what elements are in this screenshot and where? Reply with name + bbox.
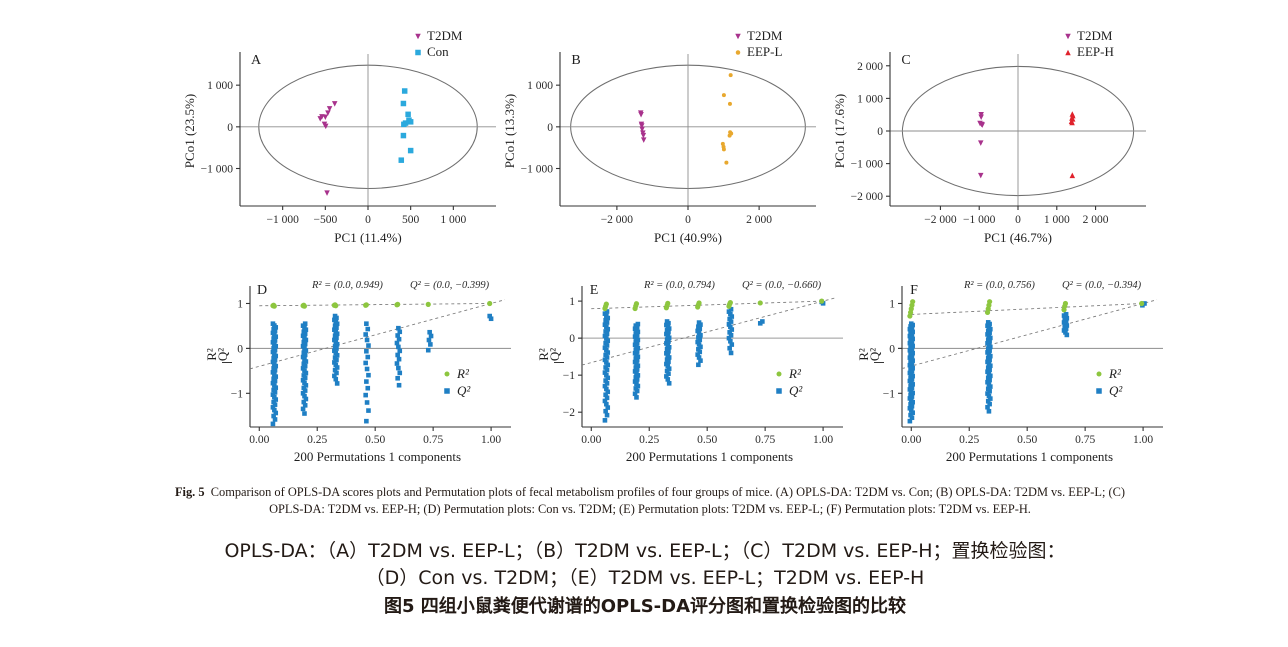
q2-point [986, 320, 991, 325]
x-tick-label: 1.00 [481, 434, 501, 446]
panel-c-opls-da-t2dm-vs-eeph: −2 000−1 00001 0002 000−2 000−1 00001 00… [828, 18, 1158, 258]
data-point [978, 140, 984, 146]
r2-point [1139, 301, 1144, 306]
panel-e-plot: 0.000.250.500.751.00−2−101200 Permutatio… [532, 262, 872, 477]
x-axis-label: 200 Permutations 1 components [946, 449, 1113, 464]
x-tick-label: 1 000 [1044, 214, 1070, 226]
r2-point [910, 299, 915, 304]
data-point [724, 161, 728, 165]
q2-point [363, 361, 368, 366]
x-tick-label: −2 000 [924, 214, 957, 226]
panel-letter: B [571, 53, 580, 68]
q2-statistic-label: Q² = (0.0, −0.394) [1062, 280, 1142, 291]
svg-B-root: −2 00002 000−1 00001 000PC1 (40.9%)PCo1 … [502, 28, 816, 245]
q2-point [395, 376, 400, 381]
figure-title-chinese: 图5 四组小鼠粪便代谢谱的OPLS-DA评分图和置换检验图的比较 [60, 592, 1230, 618]
data-point [978, 115, 984, 121]
legend-marker [1065, 50, 1071, 56]
x-tick-label: 1.00 [813, 434, 833, 446]
x-axis-label: 200 Permutations 1 components [294, 449, 461, 464]
svg-F-root: 0.000.250.500.751.00−101200 Permutations… [856, 280, 1163, 464]
x-tick-label: 1 000 [440, 214, 466, 226]
x-tick-label: 0.75 [423, 434, 443, 446]
q2-point [364, 321, 369, 326]
legend-label: Con [427, 44, 449, 59]
r2-point [665, 301, 670, 306]
x-tick-label: 2 000 [746, 214, 772, 226]
figure-caption-english: Fig. 5 Comparison of OPLS-DA scores plot… [170, 484, 1130, 518]
y-tick-label: 0 [547, 122, 553, 134]
panel-f-permutation-t2dm-vs-eeph: 0.000.250.500.751.00−101200 Permutations… [852, 262, 1192, 477]
q2-point [729, 351, 734, 356]
x-tick-label: 0.50 [697, 434, 717, 446]
svg-D-root: 0.000.250.500.751.00−101200 Permutations… [204, 280, 511, 464]
data-point [402, 88, 408, 94]
y-axis-label: PCo1 (17.6%) [832, 94, 847, 168]
q2-point [271, 321, 276, 326]
legend-label: EEP-L [747, 44, 782, 59]
q2-point [427, 330, 432, 335]
figure-caption-text: Comparison of OPLS-DA scores plots and P… [211, 485, 1125, 516]
x-axis-label: PC1 (11.4%) [334, 230, 401, 245]
y-tick-label: 0 [889, 343, 895, 355]
data-point [323, 115, 329, 121]
y-axis-label-q2: Q² [215, 348, 230, 361]
y-tick-label: 1 000 [527, 80, 553, 92]
q2-point [333, 314, 338, 319]
q2-point [365, 386, 370, 391]
r2-point [604, 301, 609, 306]
figure-caption-chinese: OPLS-DA：（A）T2DM vs. EEP-L；（B）T2DM vs. EE… [60, 538, 1230, 592]
y-tick-label: 0 [237, 343, 243, 355]
legend-label: T2DM [427, 28, 463, 43]
q2-point [603, 418, 608, 423]
q2-point [364, 419, 369, 424]
q2-point [365, 338, 370, 343]
series-t2dm [317, 101, 337, 196]
legend-marker [444, 388, 450, 394]
y-axis-label: PCo1 (13.3%) [502, 94, 517, 168]
q2-point [487, 314, 492, 319]
panel-b-plot: −2 00002 000−1 00001 000PC1 (40.9%)PCo1 … [498, 18, 828, 258]
series-t2dm [977, 112, 985, 178]
panel-letter: F [910, 283, 918, 298]
legend-label: Q² [1109, 383, 1123, 398]
y-tick-label: 0 [877, 126, 883, 138]
r2-trend-line [259, 303, 491, 305]
panel-d-permutation-con-vs-t2dm: 0.000.250.500.751.00−101200 Permutations… [200, 262, 540, 477]
data-point [729, 73, 733, 77]
panel-letter: A [251, 53, 262, 68]
q2-point [1064, 312, 1069, 317]
r2-point [987, 299, 992, 304]
r2-point [634, 301, 639, 306]
q2-point [395, 353, 400, 358]
q2-point [397, 383, 402, 388]
q2-point [987, 409, 992, 414]
r2-statistic-label: R² = (0.0, 0.794) [643, 280, 715, 291]
y-axis-label: PCo1 (23.5%) [182, 94, 197, 168]
r2-point [819, 299, 824, 304]
legend-marker [777, 372, 782, 377]
r2-statistic-label: R² = (0.0, 0.949) [311, 280, 383, 291]
legend-label: T2DM [1077, 28, 1113, 43]
data-point [405, 112, 411, 118]
r2-trend-line [911, 303, 1143, 314]
q2-point [395, 361, 400, 366]
y-tick-label: −2 [563, 407, 575, 419]
r2-point [426, 302, 431, 307]
data-point [401, 101, 407, 107]
q2-point [365, 400, 370, 405]
data-point [401, 122, 407, 128]
q2-point [271, 422, 276, 427]
x-tick-label: −1 000 [266, 214, 299, 226]
y-tick-label: 1 000 [857, 93, 883, 105]
y-axis-label-q2: Q² [547, 348, 562, 361]
q2-point [365, 367, 370, 372]
series-q2 [603, 300, 826, 423]
y-tick-label: −1 [883, 388, 895, 400]
q2-point [396, 326, 401, 331]
y-tick-label: −1 [231, 388, 243, 400]
legend-marker [1065, 34, 1071, 40]
y-tick-label: −1 000 [201, 164, 234, 176]
legend-label: R² [1108, 366, 1122, 381]
panel-c-plot: −2 000−1 00001 0002 000−2 000−1 00001 00… [828, 18, 1158, 258]
legend-label: EEP-H [1077, 44, 1114, 59]
x-tick-label: 0 [1015, 214, 1021, 226]
x-tick-label: 0 [365, 214, 371, 226]
data-point [1070, 173, 1076, 179]
x-tick-label: −2 000 [601, 214, 634, 226]
legend-marker [415, 34, 421, 40]
r2-point [395, 302, 400, 307]
q2-point [427, 338, 432, 343]
q2-point [302, 411, 307, 416]
data-point [324, 190, 330, 196]
q2-point [397, 371, 402, 376]
legend-marker [415, 50, 421, 56]
figure-container: −1 000−50005001 000−1 00001 000PC1 (11.4… [0, 0, 1288, 647]
r2-point [302, 304, 307, 309]
q2-trend-line [250, 300, 505, 369]
x-tick-label: 0.50 [1017, 434, 1037, 446]
x-axis-label: 200 Permutations 1 components [626, 449, 793, 464]
x-axis-label: PC1 (40.9%) [654, 230, 722, 245]
y-tick-label: 0 [227, 122, 233, 134]
y-tick-label: −2 000 [851, 191, 884, 203]
y-tick-label: 1 [569, 296, 575, 308]
legend-label: R² [456, 366, 470, 381]
series-eep-l [721, 73, 733, 165]
panel-d-plot: 0.000.250.500.751.00−101200 Permutations… [200, 262, 540, 477]
q2-point [366, 373, 371, 378]
svg-C-root: −2 000−1 00001 0002 000−2 000−1 00001 00… [832, 28, 1146, 245]
q2-point [397, 349, 402, 354]
r2-point [487, 301, 492, 306]
q2-point [365, 327, 370, 332]
x-tick-label: 0.00 [249, 434, 269, 446]
x-tick-label: 0.00 [901, 434, 921, 446]
q2-point [364, 349, 369, 354]
q2-point [363, 332, 368, 337]
r2-point [758, 300, 763, 305]
panel-letter: D [257, 283, 267, 298]
x-tick-label: 0.00 [581, 434, 601, 446]
permutation-plots-row: 0.000.250.500.751.00−101200 Permutations… [0, 262, 1288, 477]
y-tick-label: −1 000 [851, 159, 884, 171]
svg-E-root: 0.000.250.500.751.00−2−101200 Permutatio… [536, 280, 843, 464]
panel-letter: C [901, 53, 910, 68]
q2-point [605, 413, 610, 418]
q2-point [365, 355, 370, 360]
panel-e-permutation-t2dm-vs-eepl: 0.000.250.500.751.00−2−101200 Permutatio… [532, 262, 872, 477]
q2-trend-line [582, 297, 837, 365]
panel-f-plot: 0.000.250.500.751.00−101200 Permutations… [852, 262, 1192, 477]
legend-label: Q² [789, 383, 803, 398]
panel-b-opls-da-t2dm-vs-eepl: −2 00002 000−1 00001 000PC1 (40.9%)PCo1 … [498, 18, 828, 258]
x-tick-label: 0.50 [365, 434, 385, 446]
x-tick-label: 500 [402, 214, 420, 226]
panel-a-opls-da-t2dm-vs-con: −1 000−50005001 000−1 00001 000PC1 (11.4… [178, 18, 508, 258]
data-point [638, 112, 644, 118]
series-con [399, 88, 414, 163]
data-point [408, 119, 414, 125]
data-point [401, 133, 407, 139]
r2-point [333, 303, 338, 308]
q2-point [665, 319, 670, 324]
legend-label: Q² [457, 383, 471, 398]
data-point [728, 102, 732, 106]
legend-label: R² [788, 366, 802, 381]
q2-point [364, 379, 369, 384]
q2-trend-line [902, 300, 1157, 369]
opls-da-scores-row: −1 000−50005001 000−1 00001 000PC1 (11.4… [0, 18, 1288, 258]
data-point [978, 173, 984, 179]
q2-point [636, 322, 641, 327]
legend-marker [776, 388, 782, 394]
y-tick-label: 1 [237, 298, 243, 310]
q2-point [303, 321, 308, 326]
data-point [728, 134, 732, 138]
q2-point [335, 381, 340, 386]
legend-marker [1097, 372, 1102, 377]
panel-a-plot: −1 000−50005001 000−1 00001 000PC1 (11.4… [178, 18, 508, 258]
x-tick-label: 0.75 [1075, 434, 1095, 446]
q2-point [760, 319, 765, 324]
data-point [399, 157, 405, 163]
x-axis-label: PC1 (46.7%) [984, 230, 1052, 245]
data-point [722, 93, 726, 97]
q2-point [363, 393, 368, 398]
figure-caption-label: Fig. 5 [175, 485, 205, 499]
r2-point [728, 300, 733, 305]
q2-point [366, 408, 371, 413]
x-tick-label: 1.00 [1133, 434, 1153, 446]
figure-caption-chinese-line2: （D）Con vs. T2DM；（E）T2DM vs. EEP-L；T2DM v… [60, 565, 1230, 592]
y-tick-label: 2 000 [857, 61, 883, 73]
q2-statistic-label: Q² = (0.0, −0.660) [742, 280, 822, 291]
q2-point [909, 321, 914, 326]
q2-statistic-label: Q² = (0.0, −0.399) [410, 280, 490, 291]
series-eep-h [1069, 111, 1076, 178]
r2-point [272, 304, 277, 309]
series-q2 [908, 301, 1147, 423]
y-tick-label: −1 [563, 370, 575, 382]
data-point [641, 137, 647, 143]
y-tick-label: 1 [889, 298, 895, 310]
x-tick-label: −1 000 [963, 214, 996, 226]
data-point [722, 147, 726, 151]
data-point [332, 101, 338, 107]
panel-letter: E [590, 283, 599, 298]
r2-point [696, 300, 701, 305]
q2-point [696, 362, 701, 367]
legend-marker [1096, 388, 1102, 394]
x-tick-label: 0.25 [959, 434, 979, 446]
q2-point [426, 348, 431, 353]
y-tick-label: −1 000 [521, 164, 554, 176]
x-tick-label: −500 [313, 214, 337, 226]
x-tick-label: 0.25 [639, 434, 659, 446]
y-tick-label: 1 000 [207, 80, 233, 92]
legend-label: T2DM [747, 28, 783, 43]
legend-marker [736, 50, 741, 55]
x-tick-label: 0.75 [755, 434, 775, 446]
data-point [408, 148, 414, 154]
x-tick-label: 0.25 [307, 434, 327, 446]
legend-marker [735, 34, 741, 40]
q2-point [366, 343, 371, 348]
q2-point [428, 342, 433, 347]
x-tick-label: 2 000 [1083, 214, 1109, 226]
r2-trend-line [591, 301, 823, 309]
y-axis-label-q2: Q² [867, 348, 882, 361]
x-tick-label: 0 [685, 214, 691, 226]
q2-point [397, 357, 402, 362]
r2-statistic-label: R² = (0.0, 0.756) [963, 280, 1035, 291]
r2-point [1063, 301, 1068, 306]
svg-A-root: −1 000−50005001 000−1 00001 000PC1 (11.4… [182, 28, 496, 245]
q2-point [396, 366, 401, 371]
r2-point [364, 302, 369, 307]
q2-point [697, 320, 702, 325]
figure-caption-chinese-line1: OPLS-DA：（A）T2DM vs. EEP-L；（B）T2DM vs. EE… [60, 538, 1230, 565]
y-tick-label: 0 [569, 333, 575, 345]
legend-marker [445, 372, 450, 377]
